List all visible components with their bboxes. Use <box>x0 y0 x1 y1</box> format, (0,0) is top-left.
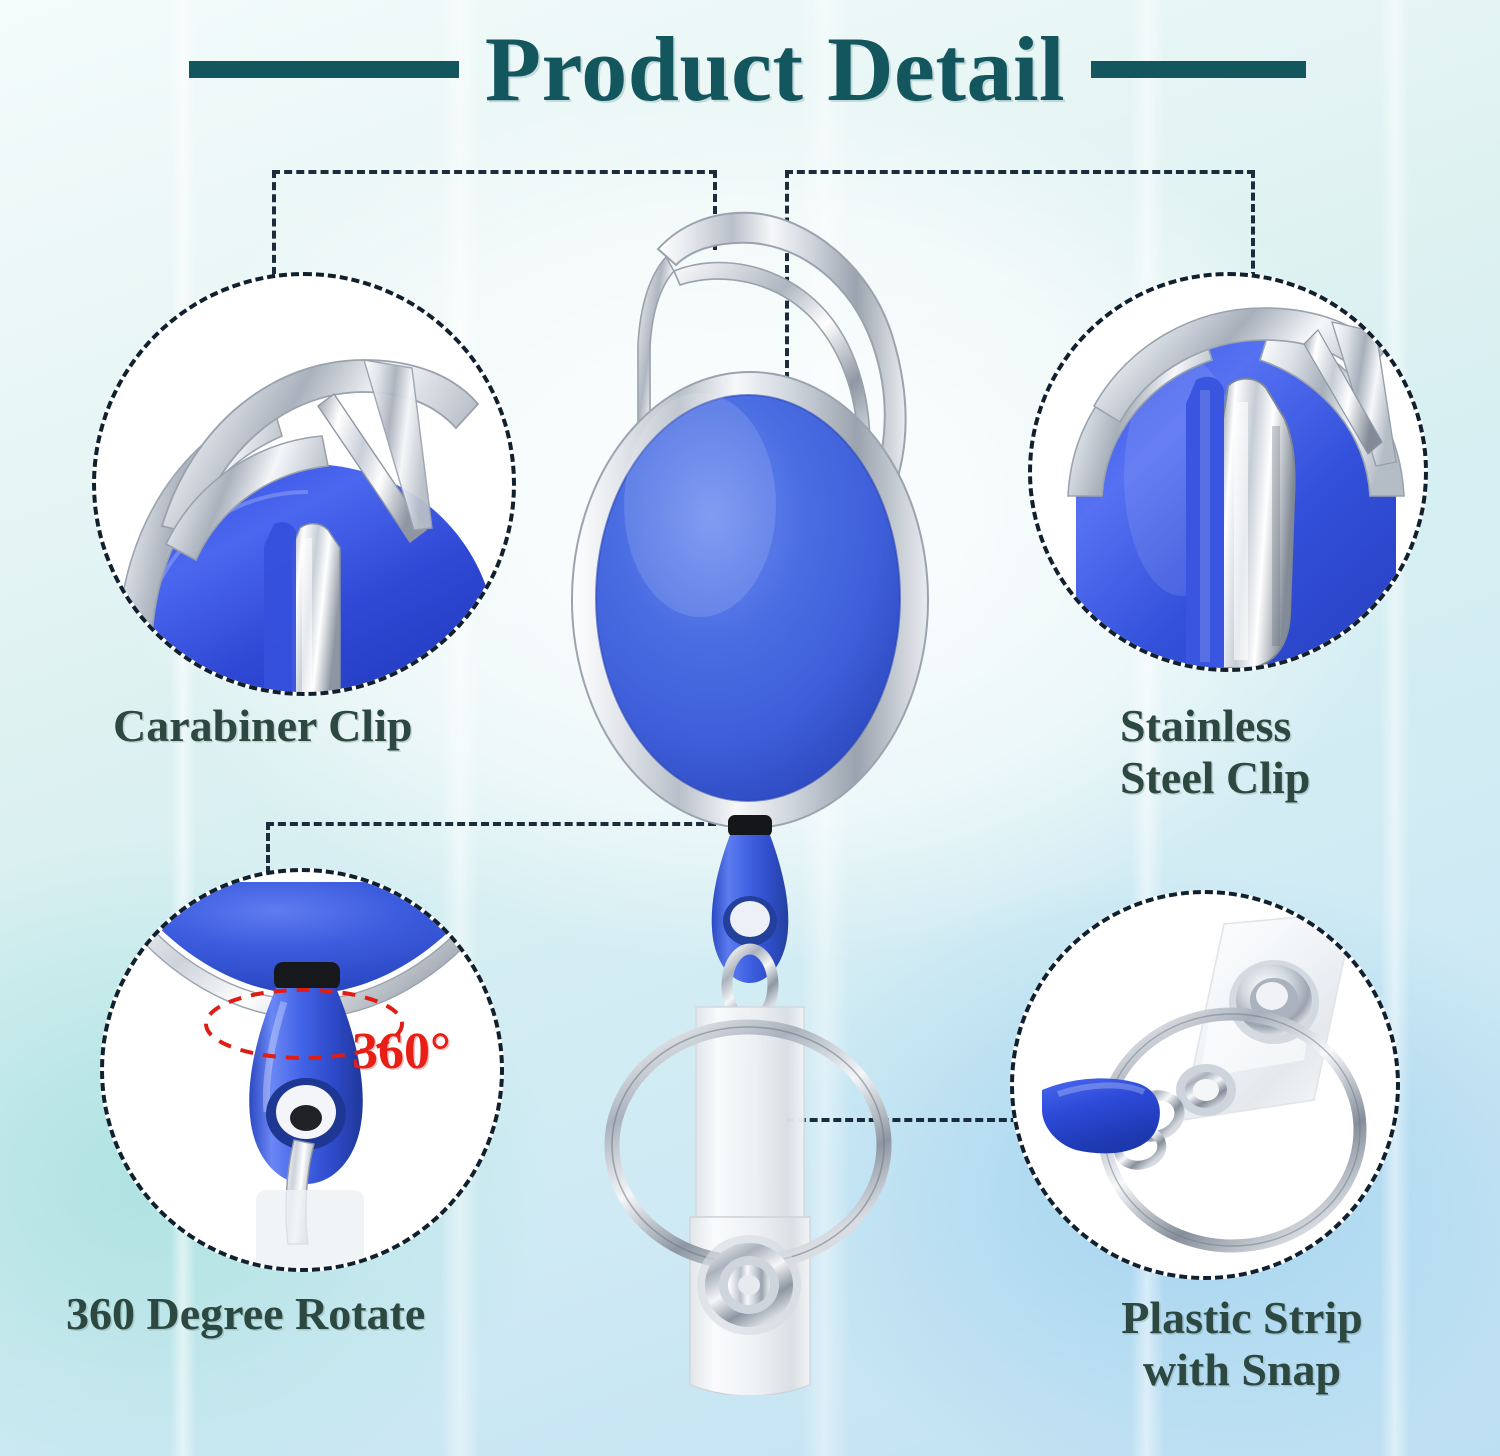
background-streak <box>1380 0 1410 1456</box>
page-title-row: Product Detail <box>0 14 1500 124</box>
background-streak <box>440 0 480 1456</box>
connector-carabiner-vertical-left <box>272 170 276 275</box>
label-stainless-steel-clip: Stainless Steel Clip <box>1120 700 1310 803</box>
badge-360-degrees: 360° <box>352 1022 451 1081</box>
product-main-image <box>540 195 960 1395</box>
label-plastic-strip-with-snap: Plastic Strip with Snap <box>1092 1292 1392 1395</box>
connector-rotate-vertical <box>266 822 270 874</box>
detail-circle-carabiner-clip <box>92 272 516 696</box>
page-title: Product Detail <box>485 23 1065 115</box>
title-rule-right <box>1091 61 1306 78</box>
label-carabiner-clip: Carabiner Clip <box>113 700 412 752</box>
connector-steelclip-horizontal <box>785 170 1255 174</box>
connector-steelclip-vertical-right <box>1251 170 1255 280</box>
detail-circle-stainless-steel-clip <box>1028 272 1428 672</box>
label-360-degree-rotate: 360 Degree Rotate <box>66 1288 425 1340</box>
connector-carabiner-horizontal <box>272 170 717 174</box>
product-detail-infographic: Product Detail <box>0 0 1500 1456</box>
detail-circle-plastic-strip-snap <box>1010 890 1400 1280</box>
title-rule-left <box>189 61 459 78</box>
